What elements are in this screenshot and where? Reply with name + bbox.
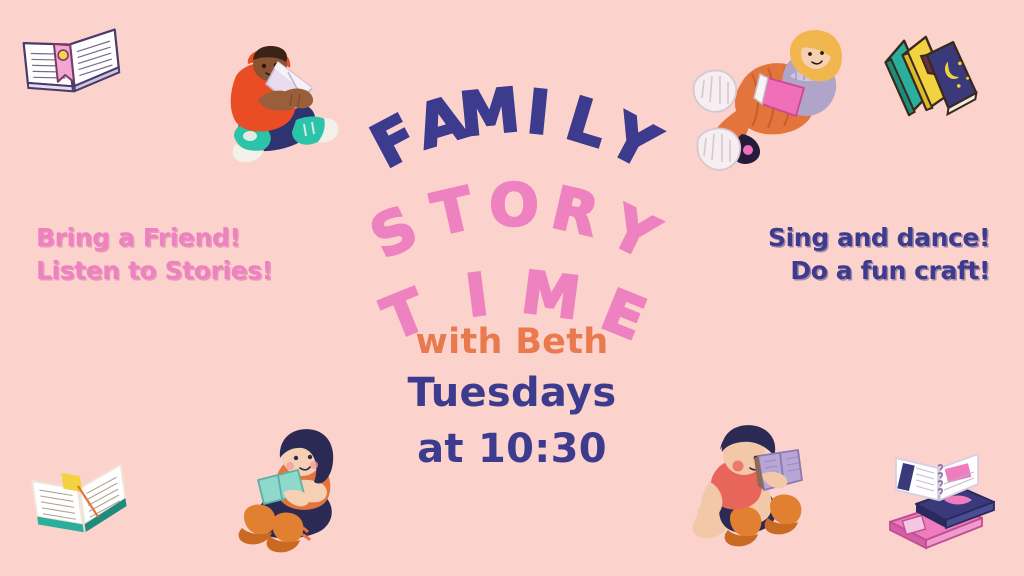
girl-reading-teal-book-illustration xyxy=(228,420,358,552)
open-book-on-book-stack-illustration xyxy=(882,446,1004,556)
title-char-family-5: Y xyxy=(600,105,667,178)
slogan-right: Sing and dance! Do a fun craft! xyxy=(768,222,990,287)
host-line: with Beth xyxy=(0,322,1024,362)
title-char-story-4: Y xyxy=(602,197,665,268)
title-char-time-1: I xyxy=(462,265,491,325)
title-char-story-3: R xyxy=(547,179,604,246)
time-line: at 10:30 xyxy=(0,426,1024,472)
day-line: Tuesdays xyxy=(0,370,1024,416)
title-char-family-2: M xyxy=(457,80,522,146)
title-char-story-2: O xyxy=(489,176,538,234)
title-char-family-3: I xyxy=(525,82,553,144)
title-char-story-0: S xyxy=(363,197,426,267)
slogan-left: Bring a Friend! Listen to Stories! xyxy=(36,222,273,287)
slogan-left-line-2: Listen to Stories! xyxy=(36,255,273,288)
title-char-story-1: T xyxy=(427,179,479,244)
slogan-right-line-2: Do a fun craft! xyxy=(768,255,990,288)
open-book-teal-cover-illustration xyxy=(26,462,142,548)
title-char-time-2: M xyxy=(519,263,584,328)
boy-reading-purple-book-illustration xyxy=(672,420,812,552)
family-story-time-poster: FAMILY STORY TIME Bring a Friend! Listen… xyxy=(0,0,1024,576)
slogan-right-line-1: Sing and dance! xyxy=(768,222,990,255)
slogan-left-line-1: Bring a Friend! xyxy=(36,222,273,255)
